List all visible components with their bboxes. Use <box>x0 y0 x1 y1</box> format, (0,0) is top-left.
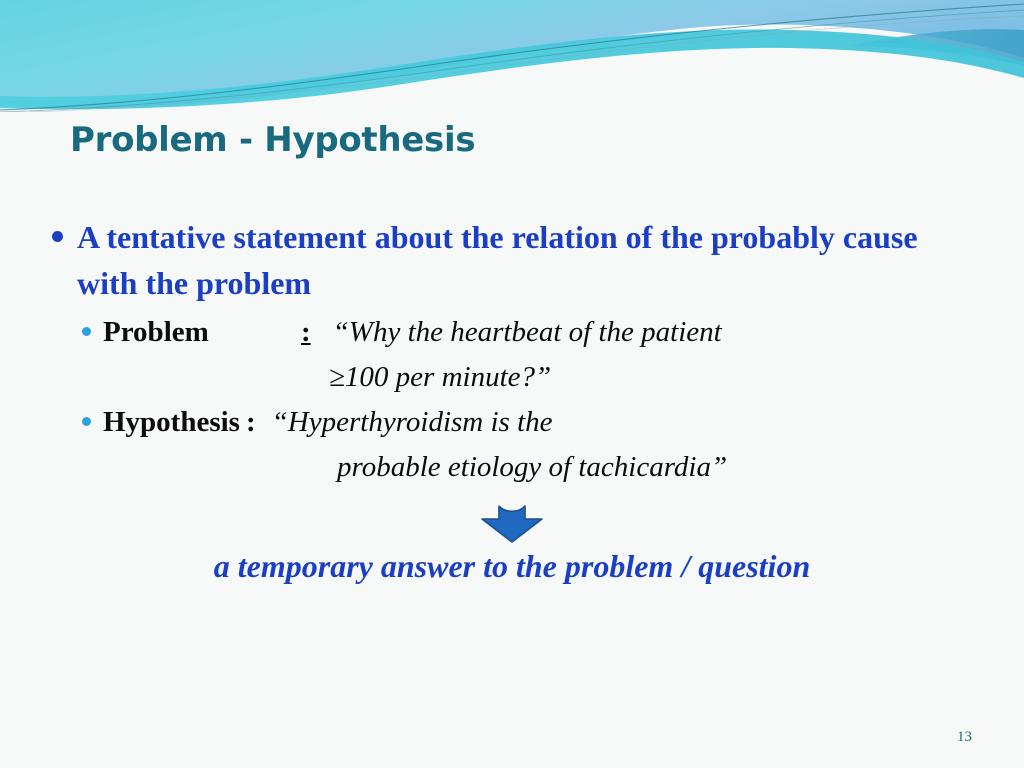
page-number: 13 <box>957 729 972 746</box>
main-bullet-text: A tentative statement about the relation… <box>77 214 957 306</box>
problem-colon: : <box>301 310 311 355</box>
hypothesis-colon: : <box>246 400 256 445</box>
slide-content: A tentative statement about the relation… <box>0 214 1024 490</box>
hypothesis-quote-line1: “Hyperthyroidism is the <box>272 400 553 445</box>
hypothesis-label: Hypothesis <box>103 400 240 445</box>
sub-bullet-dot-icon <box>82 417 91 426</box>
slide-banner-decoration <box>0 0 1024 112</box>
problem-quote-line1: “Why the heartbeat of the patient <box>333 310 722 355</box>
page-title: Problem - Hypothesis <box>70 120 475 160</box>
sub-bullet-item-hypothesis: Hypothesis : “Hyperthyroidism is the <box>82 400 1024 445</box>
bullet-dot-icon <box>52 231 63 242</box>
hypothesis-quote-line2: probable etiology of tachicardia” <box>82 445 1024 490</box>
sub-bullet-dot-icon <box>82 327 91 336</box>
conclusion-text: a temporary answer to the problem / ques… <box>0 548 1024 585</box>
arrow-container <box>0 503 1024 550</box>
problem-quote-line2: ≥100 per minute?” <box>82 355 1024 400</box>
down-arrow-icon <box>479 503 545 545</box>
sub-bullet-item-problem: Problem : “Why the heartbeat of the pati… <box>82 310 1024 355</box>
main-bullet-item: A tentative statement about the relation… <box>0 214 1024 306</box>
problem-label: Problem <box>103 310 301 355</box>
